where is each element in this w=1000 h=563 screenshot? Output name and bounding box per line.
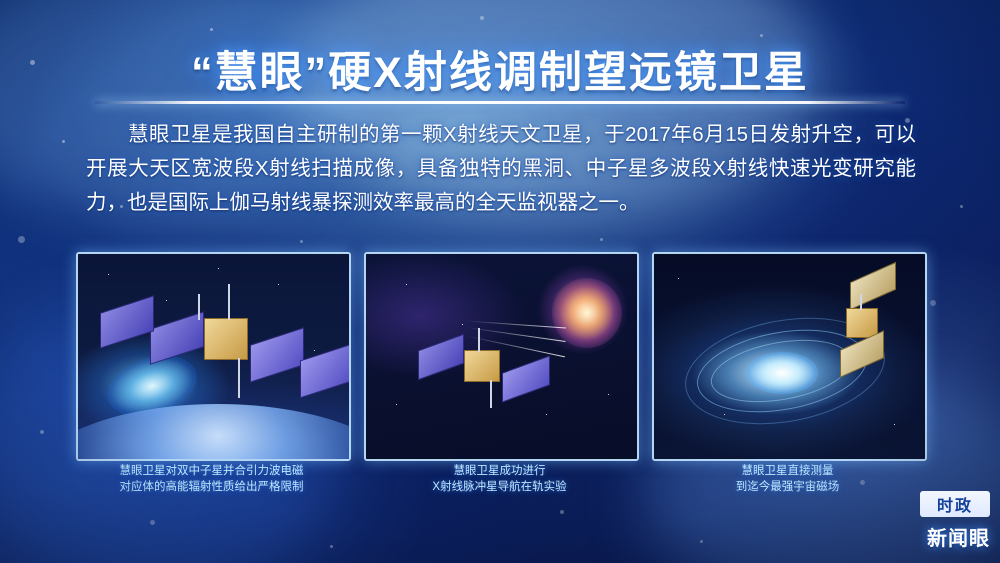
star-dot — [300, 240, 303, 243]
instrument-boom — [238, 358, 240, 398]
star-dot — [600, 238, 603, 241]
watermark-title: 新闻眼 — [882, 519, 990, 553]
antenna-boom — [860, 294, 862, 310]
satellite-body — [204, 318, 248, 360]
card-neutron-star-merger[interactable] — [76, 252, 351, 461]
star-dot — [150, 520, 155, 525]
page-title: “慧眼”硬X射线调制望远镜卫星 — [0, 38, 1000, 100]
star-dot — [560, 510, 564, 514]
star-dot — [480, 16, 484, 20]
slide-root: “慧眼”硬X射线调制望远镜卫星 慧眼卫星是我国自主研制的第一颗X射线天文卫星，于… — [0, 0, 1000, 563]
star-dot — [210, 28, 213, 31]
watermark-badge: 时政 — [920, 491, 990, 517]
caption-line: 对应体的高能辐射性质给出严格限制 — [76, 479, 347, 495]
card-caption-neutron-star-merger: 慧眼卫星对双中子星并合引力波电磁 对应体的高能辐射性质给出严格限制 — [76, 463, 347, 495]
card-pulsar-navigation[interactable] — [364, 252, 639, 461]
neutron-star-core — [746, 352, 818, 394]
antenna-boom — [478, 328, 480, 352]
antenna-boom — [228, 284, 230, 320]
caption-line: 慧眼卫星直接测量 — [652, 463, 923, 479]
caption-line: 慧眼卫星对双中子星并合引力波电磁 — [76, 463, 347, 479]
channel-watermark: 时政 新闻眼 — [882, 491, 990, 555]
star-dot — [62, 140, 65, 143]
star-dot — [960, 205, 963, 208]
star-dot — [760, 34, 763, 37]
title-underline — [95, 101, 905, 104]
star-dot — [330, 545, 333, 548]
caption-line: 慧眼卫星成功进行 — [364, 463, 635, 479]
star-dot — [18, 236, 25, 243]
satellite-body — [464, 350, 500, 382]
card-magnetic-field[interactable] — [652, 252, 927, 461]
caption-line: X射线脉冲星导航在轨实验 — [364, 479, 635, 495]
body-paragraph: 慧眼卫星是我国自主研制的第一颗X射线天文卫星，于2017年6月15日发射升空，可… — [86, 118, 916, 220]
pulsar-source — [552, 278, 622, 348]
instrument-boom — [490, 380, 492, 408]
image-card-group: 慧眼卫星对双中子星并合引力波电磁 对应体的高能辐射性质给出严格限制 慧眼卫星成功… — [0, 252, 1000, 467]
antenna-boom — [198, 294, 200, 320]
card-caption-pulsar-navigation: 慧眼卫星成功进行 X射线脉冲星导航在轨实验 — [364, 463, 635, 495]
satellite-body — [846, 308, 878, 338]
star-dot — [700, 540, 703, 543]
